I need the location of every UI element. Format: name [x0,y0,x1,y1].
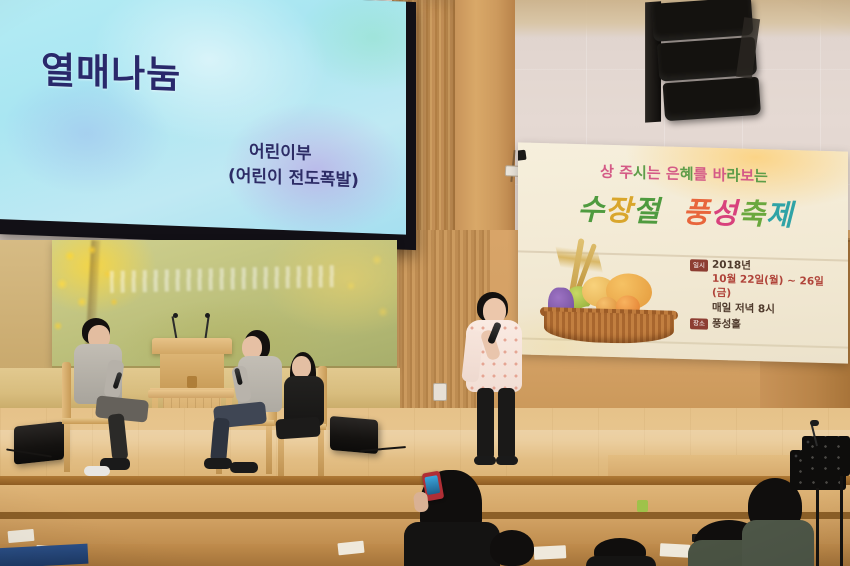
audience-person-body [404,522,500,566]
green-held-object [637,500,648,512]
speaker-shoe [496,456,518,465]
audience-hand [413,491,429,512]
phone-screen [424,475,440,495]
podium-mic-head-left [173,313,178,318]
person-right-head [292,356,311,378]
harvest-festival-banner: 상 주시는 은혜를 바라보는 수장절 풍성축제 일시 2018년 [518,142,848,363]
projection-screen-frame: 열매나눔 어린이부 (어린이 전도폭발) [0,0,416,250]
banner-headline: 수장절 풍성축제 [538,185,833,235]
stand-mic-head [810,420,819,426]
audience-person-body [586,556,656,566]
audience-person-body [742,520,814,566]
projection-screen: 열매나눔 어린이부 (어린이 전도폭발) [0,0,406,235]
blue-sign-object [0,544,88,566]
pulpit-top [152,338,232,354]
slide-subtitle-program: (어린이 전도폭발) [228,161,359,191]
pulpit-emblem [187,376,197,388]
fruit-basket-illustration [540,235,680,347]
slide-subtitle-department: 어린이부 [249,137,312,164]
banner-info-row-date: 일시 2018년 10월 22일(월) ~ 26일(금) 매일 저녁 8시 [690,257,842,318]
speaker-leg-left [477,388,494,460]
venue-label-tag: 장소 [690,318,708,330]
stage-side-wall [0,240,54,370]
person-left-shoe [84,466,110,476]
person-right-leg [275,416,320,439]
speaker-module-1 [651,0,753,42]
podium-mic-head-right [205,313,210,318]
speaker-shoe [474,456,496,465]
banner-info-row-venue: 장소 풍성홀 [690,316,842,334]
speaker-module-3 [663,77,761,122]
date-value: 2018년 10월 22일(월) ~ 26일(금) 매일 저녁 8시 [712,258,842,318]
venue-value: 풍성홀 [712,316,741,331]
wall-outlet [433,383,447,401]
floor-monitor-speaker [14,421,64,464]
pew-paper [660,543,691,558]
speaker-leg-right [498,388,515,460]
banner-info-block: 일시 2018년 10월 22일(월) ~ 26일(금) 매일 저녁 8시 장소… [690,257,842,336]
audience-person-head [490,530,534,566]
stage-table-top [148,390,234,398]
backdrop-script-text [110,265,340,293]
pew-paper [8,529,35,543]
church-auditorium-photo: 열매나눔 어린이부 (어린이 전도폭발) 상 주시는 은혜를 바라보는 수장절 … [0,0,850,566]
banner-subheadline: 상 주시는 은혜를 바라보는 [544,159,824,188]
person-center-shoe [230,462,258,473]
slide-title: 열매나눔 [41,40,181,99]
wicker-basket [544,311,674,345]
banner-corner-clip [518,150,527,162]
backdrop-ginkgo-leaves-right [307,246,397,356]
pew-paper [534,545,567,560]
person-center-shoe [204,458,232,469]
date-label-tag: 일시 [690,259,708,271]
